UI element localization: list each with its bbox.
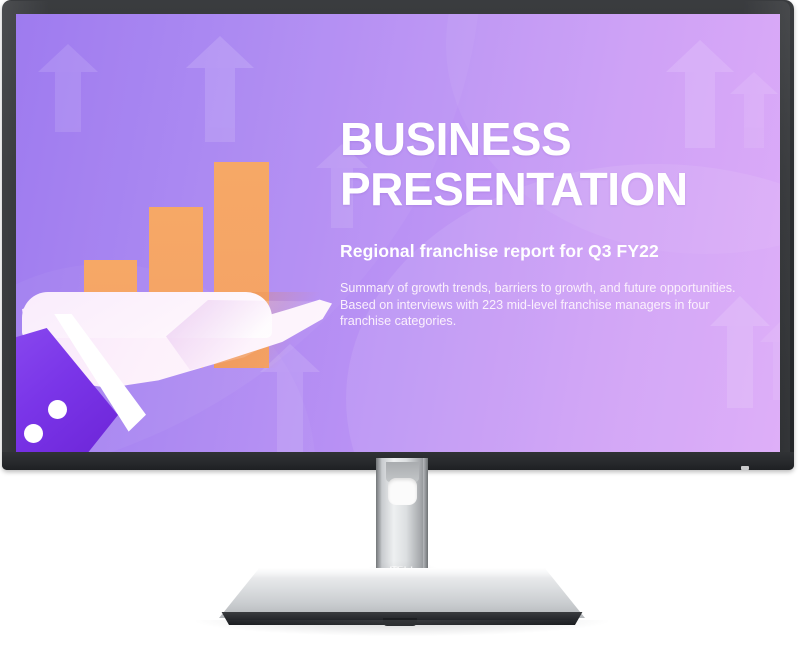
arrow-shaft [205, 68, 235, 142]
arrow-shaft [744, 94, 764, 148]
arrow-head [38, 44, 98, 72]
power-led-icon[interactable] [741, 466, 749, 470]
monitor-screen[interactable]: BUSINESS PRESENTATION Regional franchise… [16, 14, 780, 454]
stand-base-shadow [196, 620, 608, 636]
arrow-head [760, 320, 780, 342]
sleeve-button-1 [48, 400, 67, 419]
arrow-shaft [55, 72, 81, 132]
presentation-slide: BUSINESS PRESENTATION Regional franchise… [16, 14, 780, 454]
arrow-shaft [727, 326, 753, 408]
slide-title-line-2: PRESENTATION [340, 164, 740, 214]
stand-neck-right-edge [423, 458, 428, 586]
stand-neck [376, 458, 428, 586]
sleeve-button-2 [24, 424, 43, 443]
arrow-upper-center-icon [186, 36, 254, 142]
arrow-head [666, 40, 734, 72]
monitor-bottom-bezel [2, 452, 794, 470]
hand-holding-growth-bars-illustration [16, 132, 336, 454]
dell-monitor: BUSINESS PRESENTATION Regional franchise… [0, 0, 800, 472]
screenshot-stage: BUSINESS PRESENTATION Regional franchise… [0, 0, 800, 663]
arrow-far-right-icon [760, 320, 780, 400]
arrow-head [186, 36, 254, 68]
slide-text-block: BUSINESS PRESENTATION Regional franchise… [340, 114, 740, 330]
stand-neck-left-edge [376, 458, 381, 586]
slide-subtitle: Regional franchise report for Q3 FY22 [340, 240, 740, 262]
stand-base-lip [216, 612, 588, 625]
stand-base-highlight [219, 568, 585, 578]
dell-logo-text: DELL [389, 565, 416, 576]
arrow-shaft [773, 342, 780, 400]
dell-logo: DELL [384, 562, 422, 578]
stand-neck-shadow [352, 560, 452, 586]
arrow-head [730, 72, 778, 94]
slide-title-line-1: BUSINESS [340, 114, 740, 164]
stand-base-foot [383, 618, 417, 626]
arrow-top-left-icon [38, 44, 98, 132]
dell-logo-ring [388, 566, 401, 579]
cable-management-hole [388, 478, 417, 505]
stand-base [219, 568, 585, 618]
slide-body-text: Summary of growth trends, barriers to gr… [340, 280, 740, 330]
